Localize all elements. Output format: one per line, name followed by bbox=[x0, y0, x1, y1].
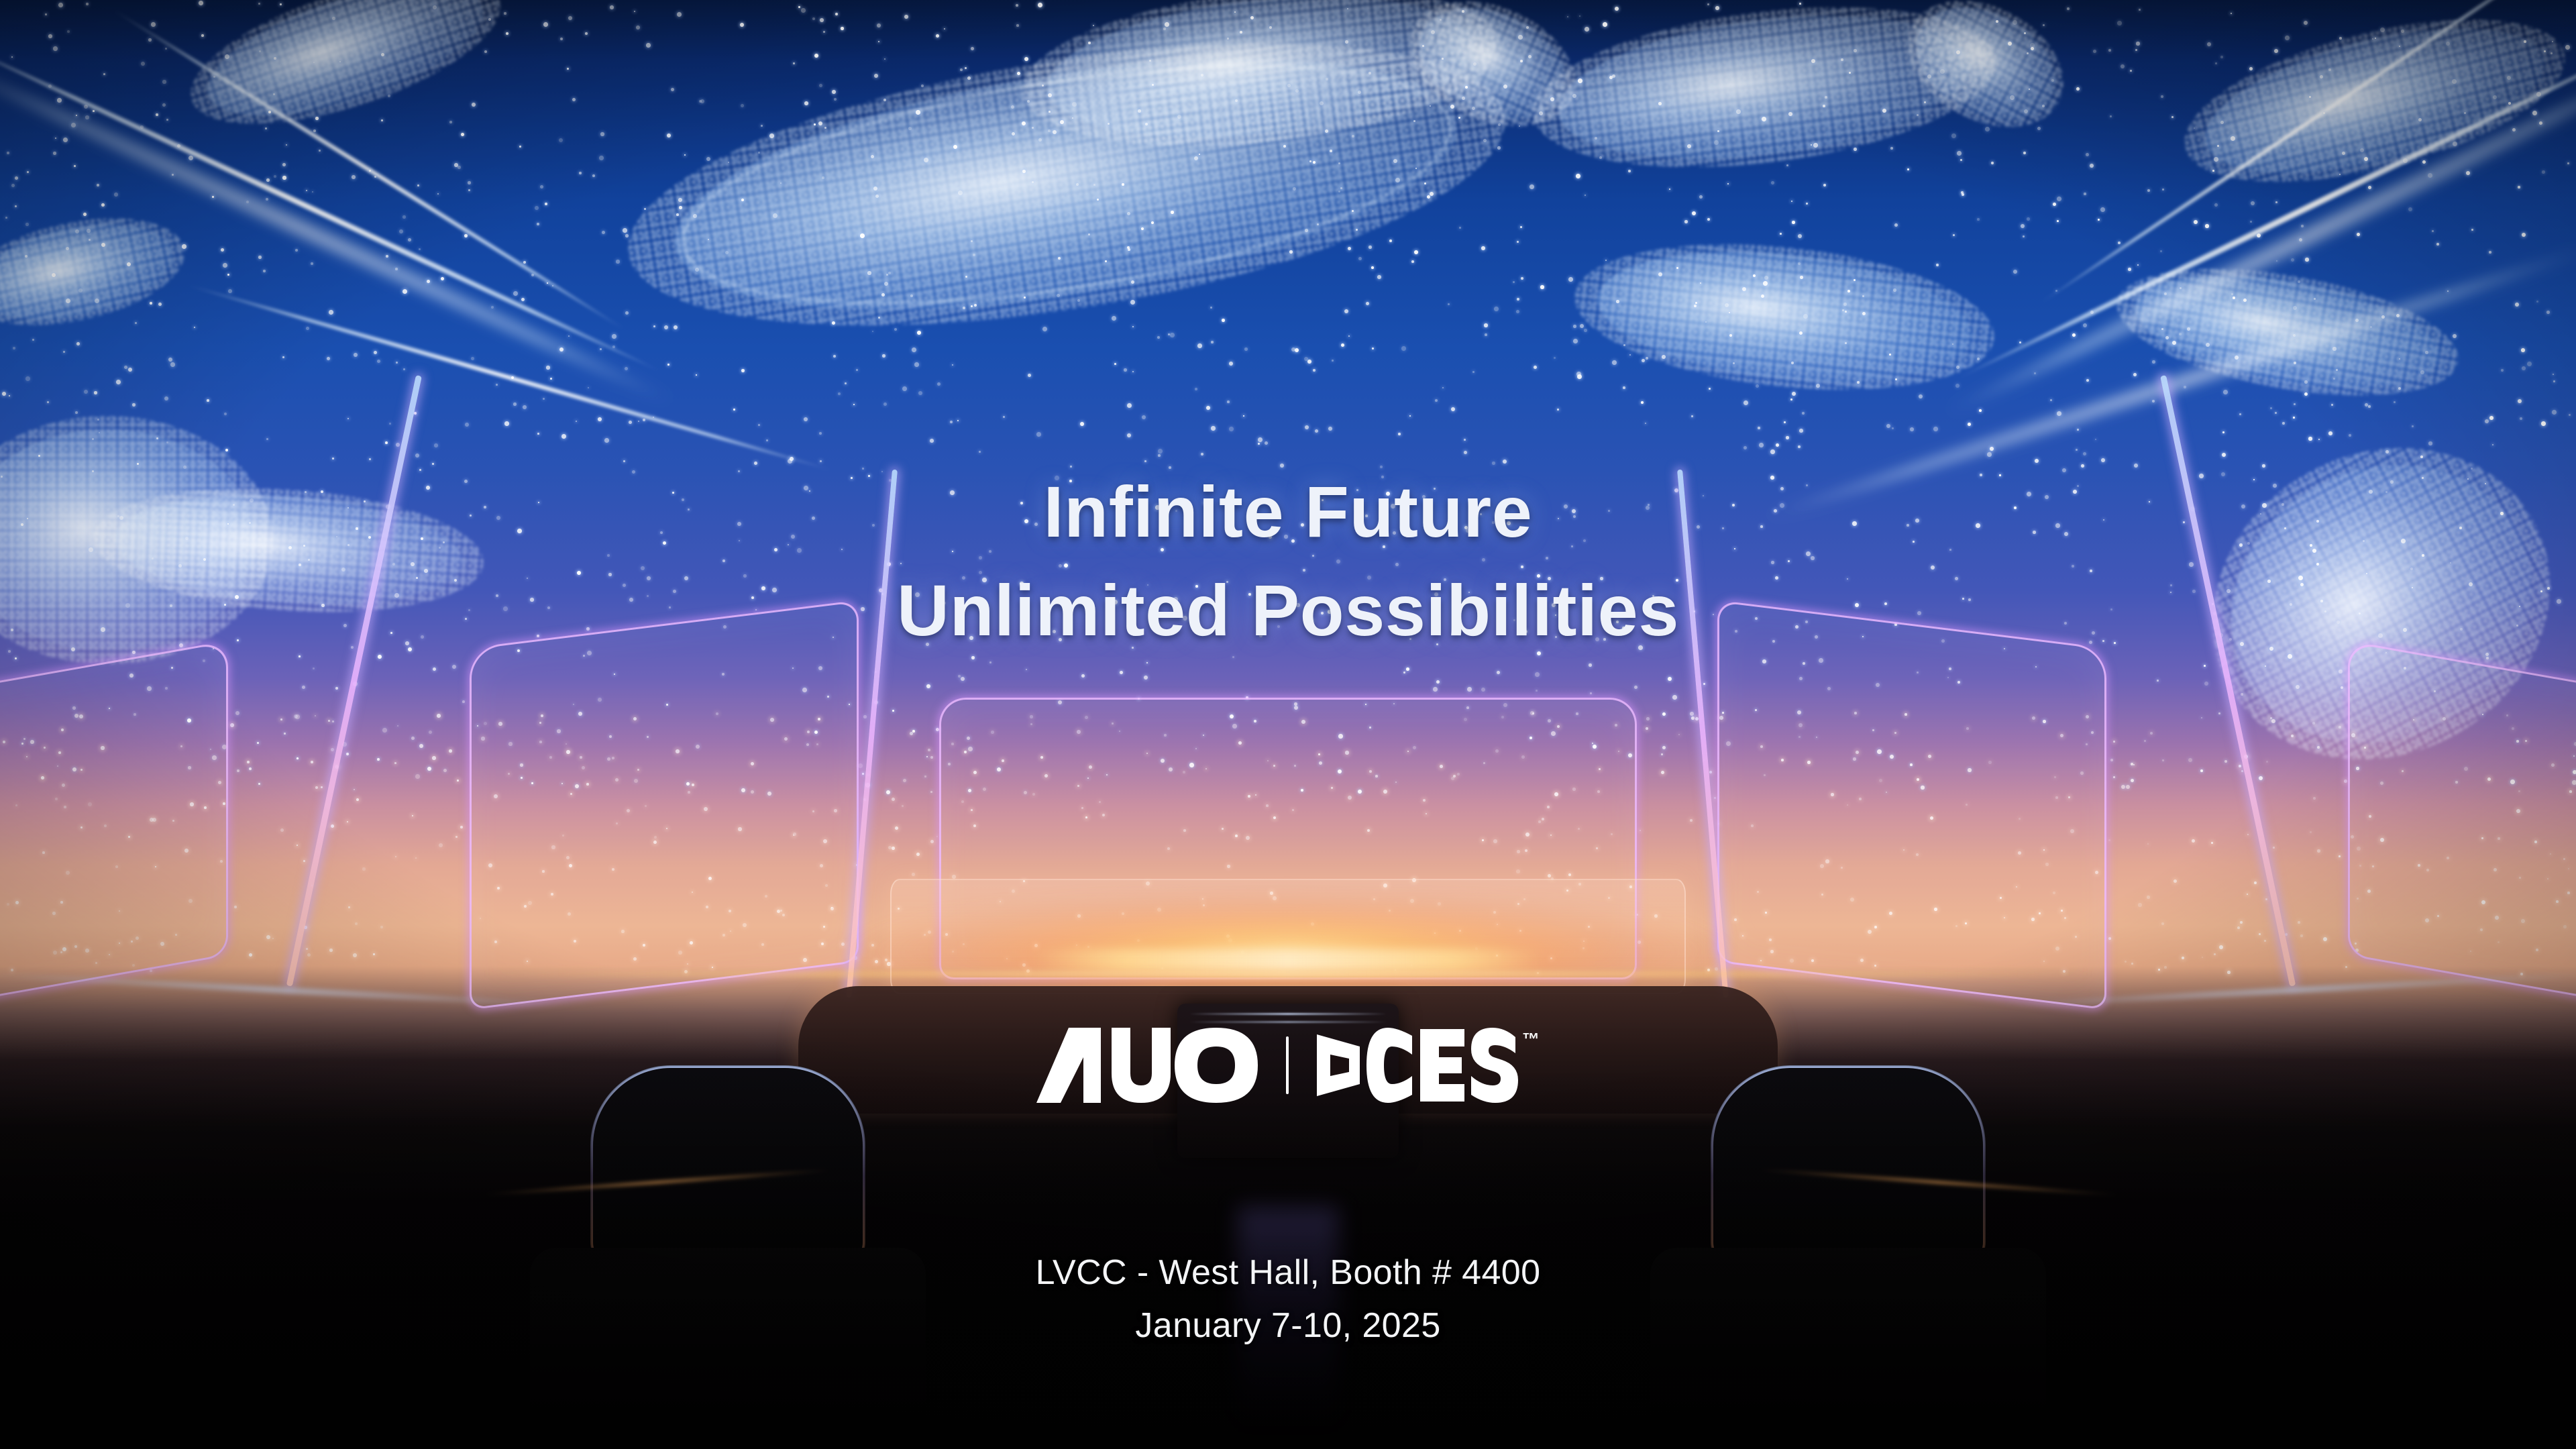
event-venue: LVCC - West Hall, Booth # 4400 bbox=[0, 1246, 2576, 1299]
headline-line-1: Infinite Future bbox=[0, 463, 2576, 561]
headline-line-2: Unlimited Possibilities bbox=[0, 561, 2576, 660]
console-accent-line bbox=[1189, 1013, 1387, 1015]
ces-logo-lockup: ™ bbox=[1317, 1028, 1540, 1103]
console-accent-line bbox=[1189, 1021, 1387, 1023]
canopy-panel-left-outer bbox=[0, 641, 228, 1004]
trademark-symbol: ™ bbox=[1522, 1030, 1540, 1048]
canopy-panel-right-outer bbox=[2348, 641, 2576, 1004]
auo-logo bbox=[1036, 1028, 1258, 1103]
ces-logo bbox=[1317, 1028, 1518, 1103]
logo-lockup: ™ bbox=[1036, 1028, 1540, 1103]
seat-right-rim-light bbox=[1711, 1065, 1986, 1267]
event-dates: January 7-10, 2025 bbox=[0, 1299, 2576, 1352]
headline-block: Infinite Future Unlimited Possibilities bbox=[0, 463, 2576, 660]
event-details-block: LVCC - West Hall, Booth # 4400 January 7… bbox=[0, 1246, 2576, 1352]
seat-left-rim-light bbox=[590, 1065, 865, 1267]
key-visual-canvas: Infinite Future Unlimited Possibilities bbox=[0, 0, 2576, 1449]
windshield-glass bbox=[890, 879, 1686, 994]
logo-divider bbox=[1286, 1036, 1289, 1094]
